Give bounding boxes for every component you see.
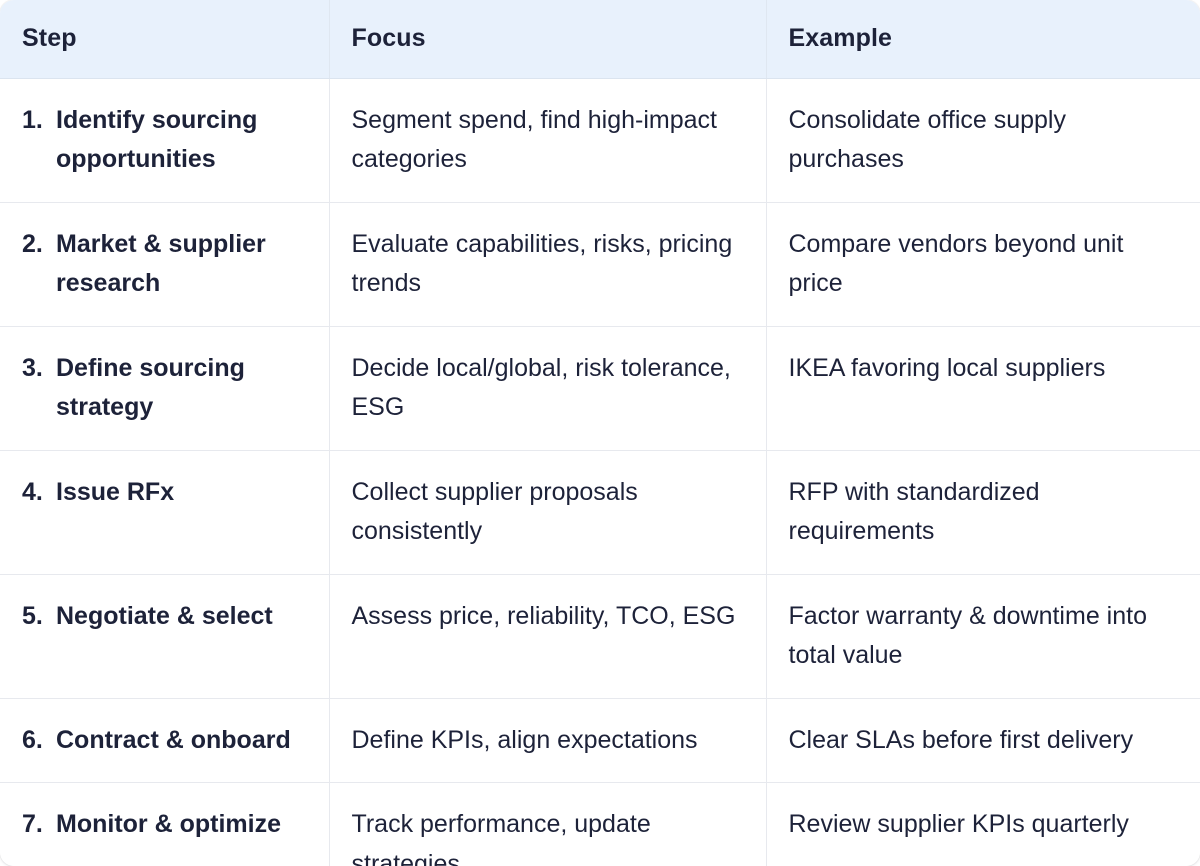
step-title: Market & supplier research (56, 225, 307, 304)
cell-focus: Track performance, update strategies (329, 783, 766, 866)
cell-focus: Assess price, reliability, TCO, ESG (329, 574, 766, 698)
table-header-row: Step Focus Example (0, 0, 1200, 78)
cell-step: 4. Issue RFx (0, 450, 329, 574)
cell-step: 1. Identify sourcing opportunities (0, 78, 329, 202)
step-number: 4. (22, 473, 47, 513)
cell-example: Factor warranty & downtime into total va… (766, 574, 1200, 698)
step-title: Monitor & optimize (56, 805, 307, 845)
step-title: Contract & onboard (56, 721, 307, 761)
column-header-focus: Focus (329, 0, 766, 78)
table-row: 6. Contract & onboard Define KPIs, align… (0, 698, 1200, 783)
step-number: 1. (22, 101, 47, 141)
step-number: 5. (22, 597, 47, 637)
table-row: 1. Identify sourcing opportunities Segme… (0, 78, 1200, 202)
cell-focus: Evaluate capabilities, risks, pricing tr… (329, 202, 766, 326)
step-title: Negotiate & select (56, 597, 307, 637)
cell-step: 6. Contract & onboard (0, 698, 329, 783)
cell-example: RFP with standardized requirements (766, 450, 1200, 574)
step-title: Define sourcing strategy (56, 349, 307, 428)
cell-step: 2. Market & supplier research (0, 202, 329, 326)
cell-focus: Collect supplier proposals consistently (329, 450, 766, 574)
step-number: 2. (22, 225, 47, 265)
cell-focus: Segment spend, find high-impact categori… (329, 78, 766, 202)
step-number: 3. (22, 349, 47, 389)
table-row: 7. Monitor & optimize Track performance,… (0, 783, 1200, 866)
cell-example: Clear SLAs before first delivery (766, 698, 1200, 783)
table-row: 2. Market & supplier research Evaluate c… (0, 202, 1200, 326)
table-row: 3. Define sourcing strategy Decide local… (0, 326, 1200, 450)
cell-step: 3. Define sourcing strategy (0, 326, 329, 450)
process-table-card: Step Focus Example 1. Identify sourcing … (0, 0, 1200, 866)
cell-example: Compare vendors beyond unit price (766, 202, 1200, 326)
cell-step: 7. Monitor & optimize (0, 783, 329, 866)
step-title: Identify sourcing opportunities (56, 101, 307, 180)
column-header-step: Step (0, 0, 329, 78)
column-header-example: Example (766, 0, 1200, 78)
cell-focus: Decide local/global, risk tolerance, ESG (329, 326, 766, 450)
step-number: 6. (22, 721, 47, 761)
table-body: 1. Identify sourcing opportunities Segme… (0, 78, 1200, 866)
table-header: Step Focus Example (0, 0, 1200, 78)
cell-step: 5. Negotiate & select (0, 574, 329, 698)
sourcing-process-table: Step Focus Example 1. Identify sourcing … (0, 0, 1200, 866)
step-number: 7. (22, 805, 47, 845)
cell-example: Review supplier KPIs quarterly (766, 783, 1200, 866)
step-title: Issue RFx (56, 473, 307, 513)
table-row: 4. Issue RFx Collect supplier proposals … (0, 450, 1200, 574)
cell-example: Consolidate office supply purchases (766, 78, 1200, 202)
cell-example: IKEA favoring local suppliers (766, 326, 1200, 450)
table-row: 5. Negotiate & select Assess price, reli… (0, 574, 1200, 698)
cell-focus: Define KPIs, align expectations (329, 698, 766, 783)
